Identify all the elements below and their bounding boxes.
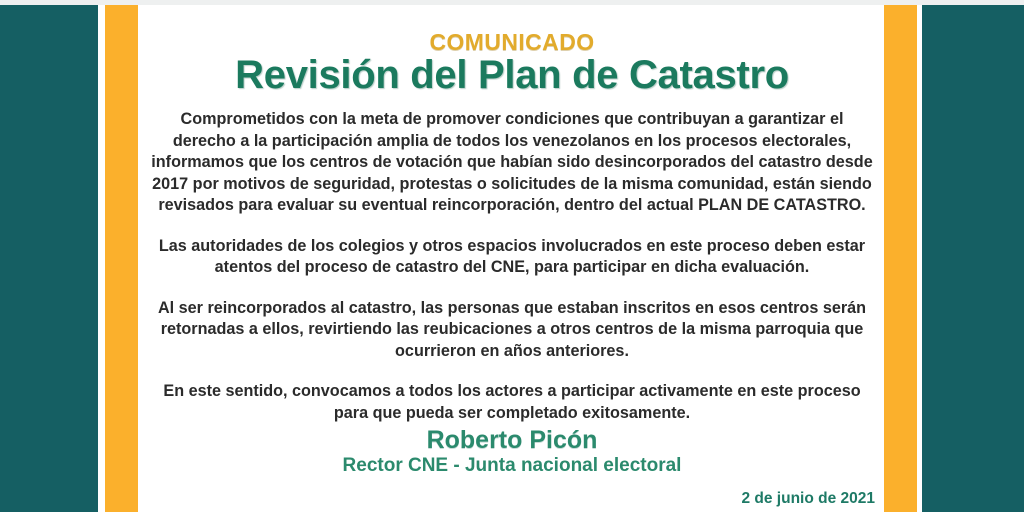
- page-title: Revisión del Plan de Catastro: [140, 53, 884, 98]
- communique-poster: COMUNICADO Revisión del Plan de Catastro…: [0, 0, 1024, 512]
- signature-name: Roberto Picón: [140, 426, 884, 455]
- paragraph-4: En este sentido, convocamos a todos los …: [148, 381, 876, 424]
- paragraph-1: Comprometidos con la meta de promover co…: [148, 109, 876, 217]
- paragraph-2: Las autoridades de los colegios y otros …: [148, 236, 876, 279]
- right-teal-band: [922, 5, 1024, 512]
- left-orange-band: [105, 5, 138, 512]
- right-orange-band: [884, 5, 917, 512]
- body-text-block: Comprometidos con la meta de promover co…: [148, 109, 876, 424]
- left-teal-band: [0, 5, 98, 512]
- kicker-label: COMUNICADO: [140, 29, 884, 56]
- signature-role: Rector CNE - Junta nacional electoral: [140, 455, 884, 477]
- publication-date: 2 de junio de 2021: [741, 490, 875, 508]
- content-panel: COMUNICADO Revisión del Plan de Catastro…: [140, 5, 884, 512]
- paragraph-3: Al ser reincorporados al catastro, las p…: [148, 298, 876, 363]
